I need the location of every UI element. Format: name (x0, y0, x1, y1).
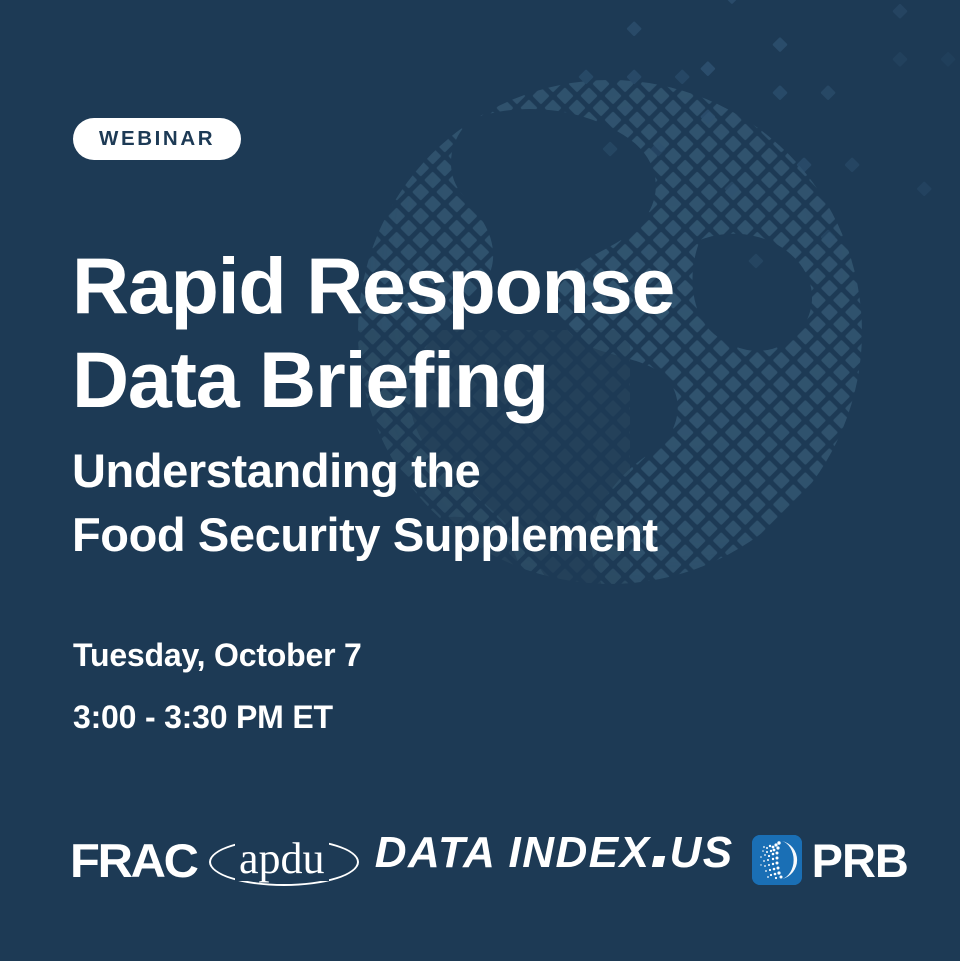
partner-logo-row: FRAC apdu DATA INDEX US (70, 828, 908, 892)
prb-globe-icon (752, 835, 802, 885)
webinar-badge: WEBINAR (73, 118, 241, 160)
data-index-label: DATA INDEX (375, 828, 651, 878)
data-index-suffix: US (669, 828, 733, 878)
prb-logo: PRB (752, 828, 908, 892)
prb-logo-label: PRB (812, 833, 908, 888)
data-index-dot-icon (652, 856, 665, 867)
data-index-us-logo: DATA INDEX US (375, 828, 734, 892)
apdu-logo-label: apdu (235, 837, 329, 881)
event-schedule: Tuesday, October 7 3:00 - 3:30 PM ET (73, 624, 362, 748)
poster-content: WEBINAR Rapid Response Data Briefing Und… (0, 0, 960, 961)
page-subtitle: Understanding the Food Security Suppleme… (72, 439, 658, 567)
apdu-logo: apdu (209, 830, 355, 890)
frac-logo: FRAC (70, 828, 197, 892)
page-title: Rapid Response Data Briefing (72, 239, 674, 427)
poster-canvas: WEBINAR Rapid Response Data Briefing Und… (0, 0, 960, 961)
